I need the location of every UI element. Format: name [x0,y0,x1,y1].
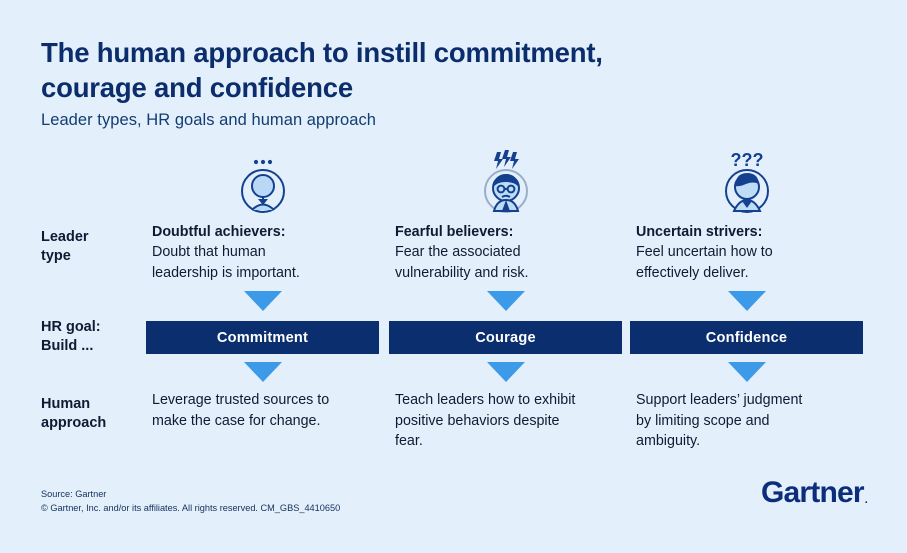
arrow-down-icon-top-3 [728,291,766,311]
arrow-down-icon-top-1 [244,291,282,311]
column-fearful-believers: Fearful believers: Fear the associated v… [389,0,622,553]
arrow-down-icon-top-2 [487,291,525,311]
arrow-down-icon-bottom-2 [487,362,525,382]
leader-type-body: Fear the associated vulnerability and ri… [395,242,625,283]
leader-type-text-1: Doubtful achievers: Doubt that human lea… [152,222,382,283]
human-approach-text-2: Teach leaders how to exhibit positive be… [395,390,627,452]
gartner-logo-text: Gartner [761,478,864,508]
row-label-human-approach: Human approach [41,395,106,434]
leader-type-body: Feel uncertain how to effectively delive… [636,242,866,283]
leader-type-heading: Doubtful achievers: [152,222,382,242]
gartner-logo: Gartner . [761,478,867,508]
arrow-down-icon-bottom-1 [244,362,282,382]
column-doubtful-achievers: Doubtful achievers: Doubt that human lea… [146,0,379,553]
leader-type-body: Doubt that human leadership is important… [152,242,382,283]
footer-source: Source: Gartner © Gartner, Inc. and/or i… [41,487,340,516]
human-approach-text-1: Leverage trusted sources to make the cas… [152,390,384,431]
human-approach-text-3: Support leaders’ judgment by limiting sc… [636,390,868,452]
row-label-hr-goal: HR goal: Build ... [41,318,101,357]
hr-goal-bar-commitment: Commitment [146,321,379,354]
leader-type-text-3: Uncertain strivers: Feel uncertain how t… [636,222,866,283]
arrow-down-icon-bottom-3 [728,362,766,382]
hr-goal-bar-confidence: Confidence [630,321,863,354]
column-uncertain-strivers: ??? Uncertain strivers: Feel uncertain h… [630,0,863,553]
leader-type-heading: Uncertain strivers: [636,222,866,242]
person-stressed-lightning-icon [471,148,541,214]
hr-goal-bar-courage: Courage [389,321,622,354]
svg-text:???: ??? [730,150,763,170]
row-label-leader-type: Leader type [41,228,89,267]
copyright-line: © Gartner, Inc. and/or its affiliates. A… [41,501,340,515]
source-line: Source: Gartner [41,487,340,501]
gartner-logo-mark: . [865,495,867,506]
leader-type-heading: Fearful believers: [395,222,625,242]
person-uncertain-question-marks-icon: ??? [712,148,782,214]
infographic-slide: The human approach to instill commitment… [0,0,907,553]
leader-type-text-2: Fearful believers: Fear the associated v… [395,222,625,283]
person-thinking-ellipsis-icon [228,148,298,214]
